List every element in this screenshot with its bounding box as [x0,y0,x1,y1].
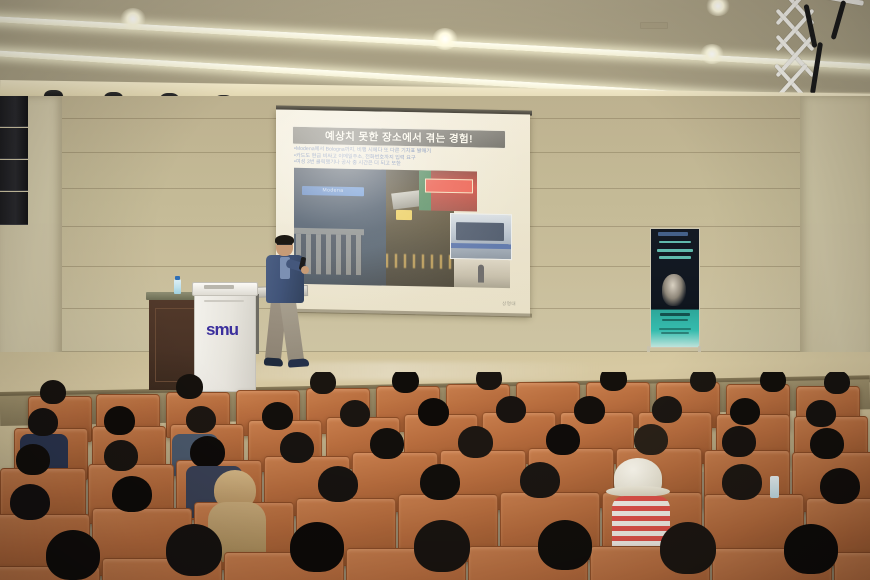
attendee-head [166,524,222,576]
armrest-water-bottle [770,476,779,498]
attendee-head [340,400,370,427]
attendee-head [690,372,716,392]
attendee-head [806,400,836,427]
water-bottle-cap [175,276,180,280]
banner-sheet [650,228,700,348]
attendee-head [810,428,844,459]
ceiling-lamp-glow-3 [700,44,724,64]
attendee-head [722,426,756,457]
attendee-head [370,428,404,459]
attendee-head [520,462,560,498]
banner-portrait [662,274,686,306]
ceiling [0,0,870,92]
presenter-hand [301,266,309,274]
projector-cable-3 [831,0,847,40]
glasses-icon [277,244,292,248]
attendee-head [280,432,314,463]
attendee-head [660,522,716,574]
slide-photo-collage: Modena [294,168,510,290]
ceiling-lamp-glow-2 [432,28,458,50]
attendee-head [262,402,293,430]
attendee-head [104,406,135,435]
attendee-head [40,380,66,404]
attendee-head [538,520,592,570]
banner-header-strip [658,232,688,236]
roll-up-banner [646,228,702,358]
attendee-head [46,530,100,580]
attendee-head [290,522,344,572]
presenter-shoe-front [288,358,310,367]
attendee-head [722,464,762,500]
attendee-head [186,406,216,433]
attendee-head [176,374,203,399]
slide-footer-note: 상명대 [502,301,516,307]
presenter-speaker [256,237,316,383]
attendee-head [10,484,50,520]
auditorium-lecture-scene: 예상치 못한 장소에서 겪는 경험! ▪Modena에서 Bologna까지, … [0,0,870,580]
attendee-head [784,524,838,574]
attendee-head [392,372,419,393]
seat [834,552,870,580]
audience-seating-area [0,372,870,580]
ceiling-vent [640,22,668,29]
attendee-head [824,372,850,394]
slide-bullet-list: ▪Modena에서 Bologna까지, 비행 시에다 또 다른 기차표 발매기… [294,146,514,170]
attendee-head [476,372,502,390]
attendee-head [652,396,682,423]
attendee-head [318,466,358,502]
metro-car-photo [450,213,512,260]
attendee-head [16,444,50,475]
presenter-leg-front [280,298,305,364]
podium-logo: smu [206,320,238,340]
attendee-head [104,440,138,471]
podium-trim-line [204,300,244,302]
attendee-head [458,426,493,458]
attendee-head [546,424,580,455]
attendee-head [820,468,860,504]
ceiling-lamp-glow-1 [120,8,146,30]
attendee-head [112,476,152,512]
attendee-head [760,372,786,392]
red-sign-photo [419,170,477,211]
ceiling-lamp-glow-4 [706,0,730,16]
presenter-shoe-back [264,357,284,366]
attendee-head [414,520,470,572]
attendee-head [730,398,760,425]
left-wall-loudspeaker-array [0,96,28,224]
water-bottle [174,279,181,294]
slide-title: 예상치 못한 장소에서 겪는 경험! [325,128,473,146]
attendee-head [420,464,460,500]
attendee-head [600,372,627,391]
station-sign-text: Modena [302,186,364,196]
attendee-head [418,398,449,426]
attendee-head [190,436,225,468]
podium-slot [204,285,234,289]
attendee-head [574,396,605,424]
attendee-head [310,372,336,394]
attendee-head [634,424,668,455]
attendee-head [28,408,58,436]
lone-person-photo [454,259,510,288]
attendee-head [496,396,526,423]
right-wall-return [800,96,870,396]
